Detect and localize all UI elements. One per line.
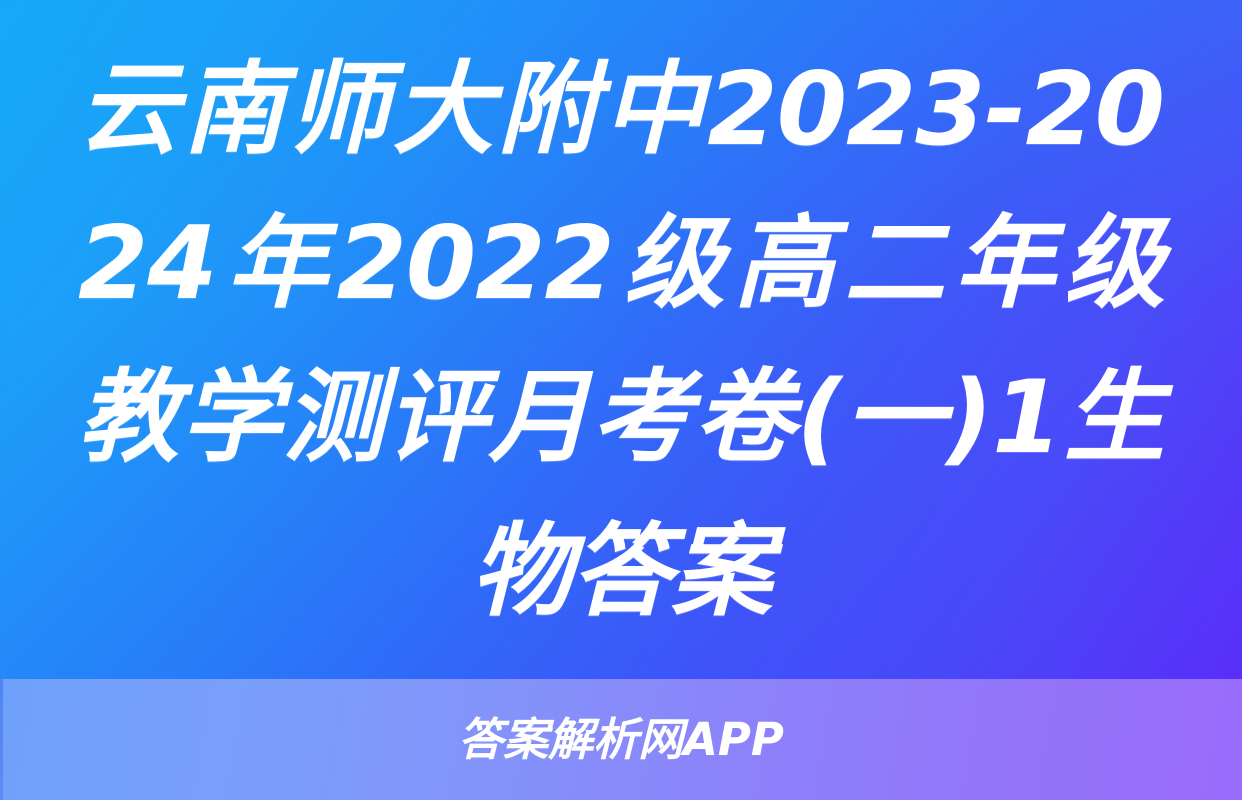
page-title: 云南师大附中2023-2024年2022级高二年级教学测评月考卷(一)1生物答案 xyxy=(78,32,1164,648)
footer-bar: 答案解析网APP xyxy=(0,679,1242,800)
answer-key-poster: 云南师大附中2023-2024年2022级高二年级教学测评月考卷(一)1生物答案… xyxy=(0,0,1242,800)
headline-container: 云南师大附中2023-2024年2022级高二年级教学测评月考卷(一)1生物答案 xyxy=(0,0,1242,679)
app-brand-label: 答案解析网APP xyxy=(458,717,784,762)
